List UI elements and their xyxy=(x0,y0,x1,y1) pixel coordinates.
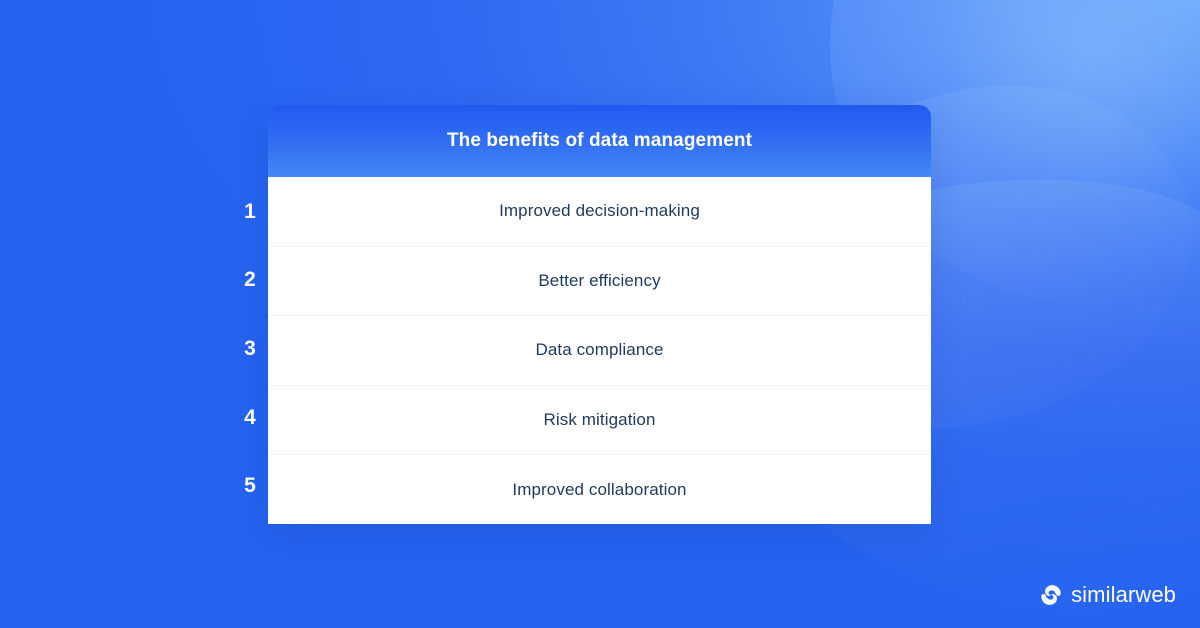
row-number: 2 xyxy=(196,246,256,315)
similarweb-s-mark-icon xyxy=(1040,584,1062,606)
card-header: The benefits of data management xyxy=(268,105,931,177)
table-row-label: Improved decision-making xyxy=(499,201,700,221)
row-number-rail: 1 2 3 4 5 xyxy=(196,177,256,520)
table-row: Risk mitigation xyxy=(268,385,931,455)
infographic-canvas: 1 2 3 4 5 The benefits of data managemen… xyxy=(0,0,1200,628)
brand-wordmark: similarweb xyxy=(1071,584,1176,606)
table-row-label: Improved collaboration xyxy=(512,480,686,500)
table-row: Improved decision-making xyxy=(268,177,931,246)
row-number: 1 xyxy=(196,177,256,246)
table-row-label: Better efficiency xyxy=(538,271,660,291)
card-body: Improved decision-making Better efficien… xyxy=(268,177,931,524)
table-row-label: Data compliance xyxy=(535,340,663,360)
row-number: 4 xyxy=(196,383,256,452)
table-row: Better efficiency xyxy=(268,246,931,316)
brand-logo: similarweb xyxy=(1040,584,1176,606)
table-row-label: Risk mitigation xyxy=(543,410,655,430)
page-title: The benefits of data management xyxy=(447,130,752,152)
row-number: 5 xyxy=(196,451,256,520)
table-row: Improved collaboration xyxy=(268,454,931,524)
table-row: Data compliance xyxy=(268,315,931,385)
row-number: 3 xyxy=(196,314,256,383)
benefits-table-card: The benefits of data management Improved… xyxy=(268,105,931,524)
